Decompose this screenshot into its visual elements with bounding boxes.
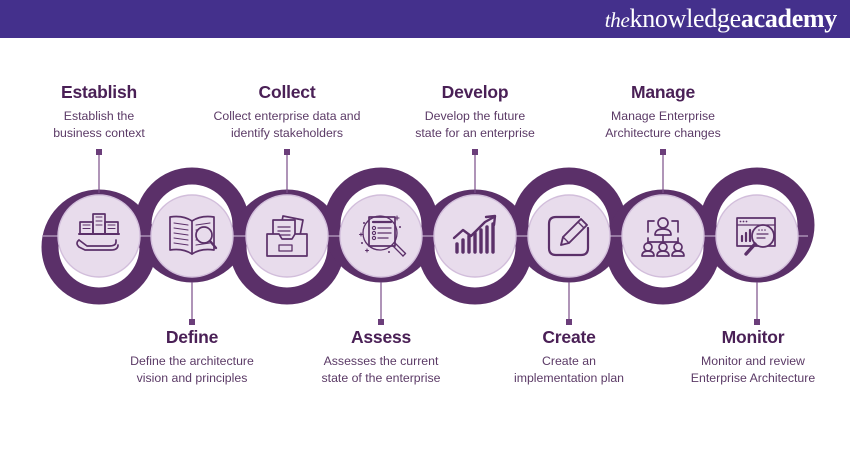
step-title-collect: Collect	[178, 82, 396, 104]
step-label-define: Define Define the architecture vision an…	[97, 327, 287, 388]
step-desc-line1: Collect enterprise data and	[178, 108, 396, 125]
connector-cap-2	[189, 319, 195, 325]
step-desc-line2: Enterprise Architecture	[658, 370, 848, 387]
step-desc-line2: identify stakeholders	[178, 125, 396, 142]
connector-cap-1	[96, 149, 102, 155]
step-title-define: Define	[97, 327, 287, 349]
step-label-manage: Manage Manage Enterprise Architecture ch…	[568, 82, 758, 143]
step-desc-establish: Establish the business context	[4, 108, 194, 143]
step-desc-monitor: Monitor and review Enterprise Architectu…	[658, 353, 848, 388]
step-label-collect: Collect Collect enterprise data and iden…	[178, 82, 396, 143]
step-title-develop: Develop	[380, 82, 570, 104]
connector-cap-4	[378, 319, 384, 325]
connector-cap-8	[754, 319, 760, 325]
step-desc-develop: Develop the future state for an enterpri…	[380, 108, 570, 143]
step-desc-define: Define the architecture vision and princ…	[97, 353, 287, 388]
step-title-monitor: Monitor	[658, 327, 848, 349]
step-desc-line2: vision and principles	[97, 370, 287, 387]
step-desc-line2: state for an enterprise	[380, 125, 570, 142]
step-desc-line1: Assesses the current	[286, 353, 476, 370]
step-title-manage: Manage	[568, 82, 758, 104]
step-desc-line2: business context	[4, 125, 194, 142]
step-label-assess: Assess Assesses the current state of the…	[286, 327, 476, 388]
step-desc-line1: Manage Enterprise	[568, 108, 758, 125]
step-desc-manage: Manage Enterprise Architecture changes	[568, 108, 758, 143]
connector-cap-3	[284, 149, 290, 155]
step-desc-line1: Establish the	[4, 108, 194, 125]
step-desc-line2: Architecture changes	[568, 125, 758, 142]
connector-cap-5	[472, 149, 478, 155]
step-label-establish: Establish Establish the business context	[4, 82, 194, 143]
step-desc-create: Create an implementation plan	[474, 353, 664, 388]
step-circle-6[interactable]	[528, 195, 610, 277]
step-desc-assess: Assesses the current state of the enterp…	[286, 353, 476, 388]
infographic-page: theknowledgeacademy	[0, 0, 850, 450]
step-label-create: Create Create an implementation plan	[474, 327, 664, 388]
step-desc-line1: Create an	[474, 353, 664, 370]
step-title-create: Create	[474, 327, 664, 349]
connector-cap-7	[660, 149, 666, 155]
step-desc-line2: state of the enterprise	[286, 370, 476, 387]
step-circle-1[interactable]	[58, 195, 140, 277]
step-label-develop: Develop Develop the future state for an …	[380, 82, 570, 143]
step-title-assess: Assess	[286, 327, 476, 349]
step-desc-line1: Develop the future	[380, 108, 570, 125]
step-desc-line2: implementation plan	[474, 370, 664, 387]
step-label-monitor: Monitor Monitor and review Enterprise Ar…	[658, 327, 848, 388]
step-title-establish: Establish	[4, 82, 194, 104]
connector-cap-6	[566, 319, 572, 325]
step-desc-line1: Monitor and review	[658, 353, 848, 370]
step-desc-line1: Define the architecture	[97, 353, 287, 370]
step-desc-collect: Collect enterprise data and identify sta…	[178, 108, 396, 143]
folder-documents-icon	[267, 216, 307, 256]
